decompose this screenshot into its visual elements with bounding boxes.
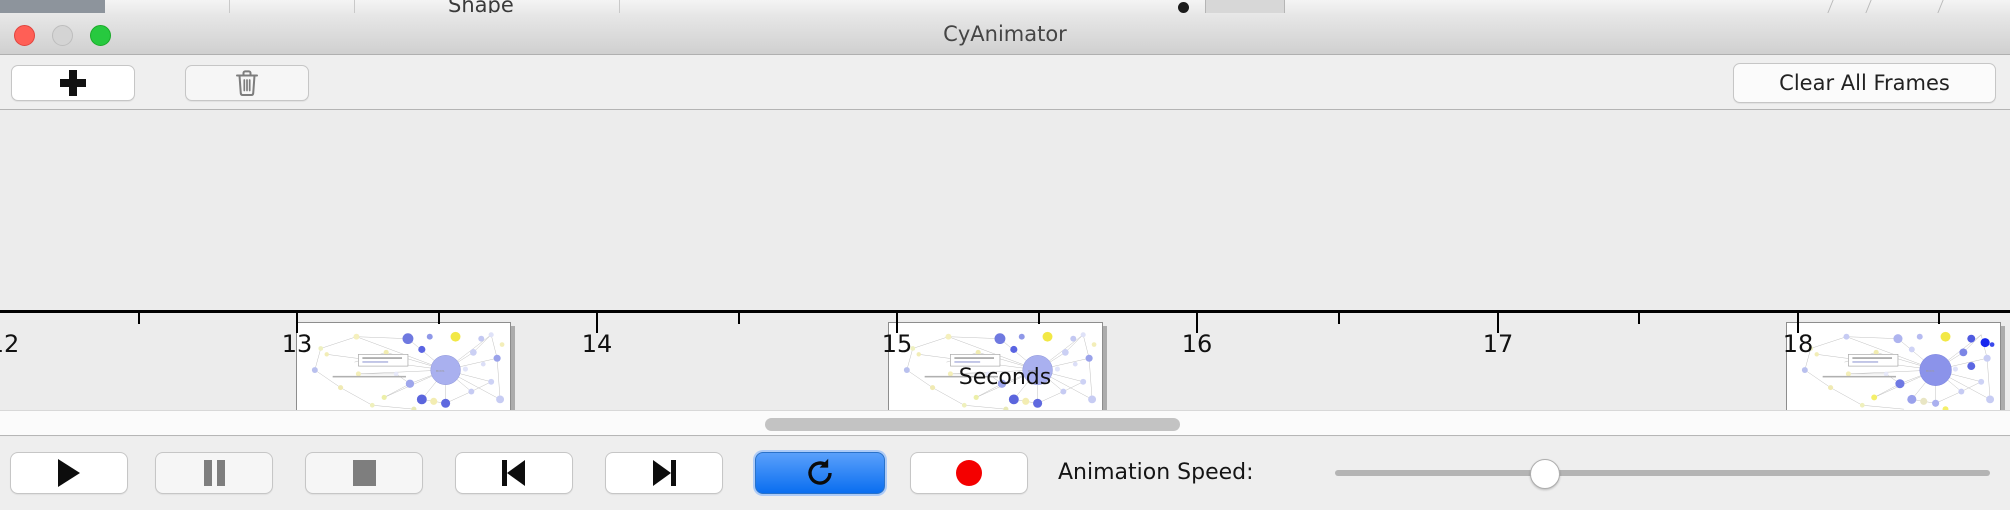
background-shape-label: Shape [448, 0, 514, 13]
add-frame-button[interactable] [11, 65, 135, 101]
skip-back-icon [502, 460, 526, 486]
axis-tick-minor [1338, 313, 1340, 324]
pause-icon [204, 460, 225, 486]
axis-tick-minor [738, 313, 740, 324]
background-window-strip: Shape [0, 0, 2010, 13]
axis-tick-minor [438, 313, 440, 324]
axis-tick-minor [1938, 313, 1940, 324]
animation-speed-label: Animation Speed: [1058, 452, 1254, 494]
background-mini-slider [1205, 0, 1285, 13]
skip-back-button[interactable] [455, 452, 573, 494]
pause-button[interactable] [155, 452, 273, 494]
background-slider-dot [1178, 2, 1189, 13]
timeline-scrollbar[interactable] [0, 410, 2010, 436]
playback-toolbar: Animation Speed: [0, 437, 2010, 510]
axis-title: Seconds [0, 365, 2010, 390]
axis-tick-label: 12 [0, 330, 19, 358]
clear-all-frames-button[interactable]: Clear All Frames [1733, 63, 1996, 103]
cyanimator-window: Shape CyAnimator Clear All Frames [0, 0, 2010, 510]
loop-button[interactable] [755, 452, 885, 494]
animation-speed-slider[interactable] [1335, 452, 1990, 494]
play-icon [58, 459, 80, 487]
axis-tick-label: 13 [282, 330, 313, 358]
loop-icon [804, 457, 836, 489]
skip-forward-icon [652, 460, 676, 486]
timeline-axis-line [0, 310, 2010, 313]
axis-tick-label: 15 [882, 330, 913, 358]
window-title: CyAnimator [0, 13, 2010, 55]
trash-icon [234, 69, 260, 97]
background-tick [1937, 0, 1943, 13]
slider-thumb[interactable] [1530, 459, 1560, 489]
background-segment [105, 0, 230, 13]
frames-toolbar: Clear All Frames [0, 55, 2010, 110]
axis-tick-label: 17 [1483, 330, 1514, 358]
background-tick [1827, 0, 1833, 13]
axis-tick-minor [138, 313, 140, 324]
background-dark-tab [0, 0, 105, 13]
timeline-canvas[interactable]: MCM1 [0, 110, 2010, 410]
play-button[interactable] [10, 452, 128, 494]
axis-tick-label: 14 [582, 330, 613, 358]
background-segment [230, 0, 355, 13]
skip-forward-button[interactable] [605, 452, 723, 494]
record-icon [956, 460, 982, 486]
stop-icon [353, 460, 376, 486]
slider-track [1335, 470, 1990, 476]
delete-frame-button[interactable] [185, 65, 309, 101]
background-tick [1865, 0, 1871, 13]
plus-icon [60, 70, 86, 96]
title-bar: CyAnimator [0, 13, 2010, 55]
axis-tick-label: 16 [1182, 330, 1213, 358]
record-button[interactable] [910, 452, 1028, 494]
stop-button[interactable] [305, 452, 423, 494]
scrollbar-thumb[interactable] [765, 418, 1180, 431]
axis-tick-label: 18 [1783, 330, 1814, 358]
axis-tick-minor [1038, 313, 1040, 324]
axis-tick-minor [1638, 313, 1640, 324]
